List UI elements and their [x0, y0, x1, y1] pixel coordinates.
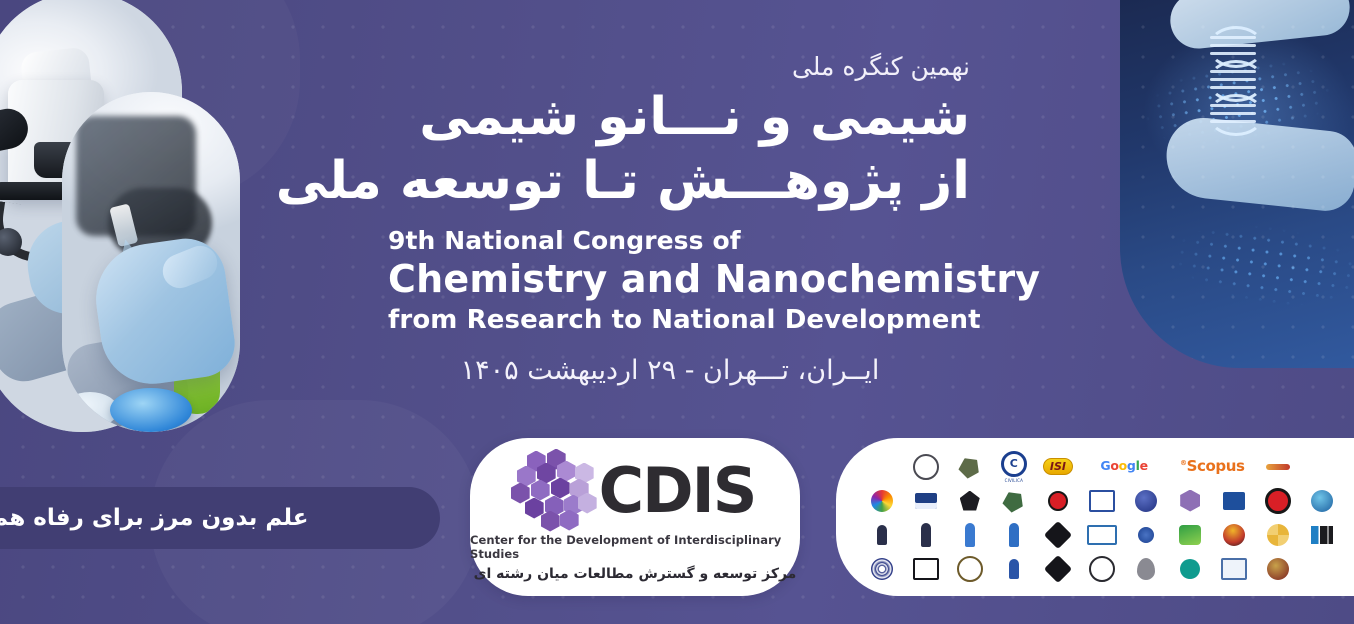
date-location-text: ایــران، تـــهران - ۲۹ اردیبهشت ۱۴۰۵	[370, 355, 970, 386]
dark-diamond-icon	[1043, 520, 1073, 550]
title-en-small: 9th National Congress of	[388, 226, 970, 255]
scientist-holding-flask-photo	[62, 92, 240, 432]
mandala-university-icon	[867, 554, 897, 584]
teacher-training-icon	[1131, 486, 1161, 516]
mountain-university-icon	[911, 486, 941, 516]
title-en-sub: from Research to National Development	[388, 305, 970, 335]
university-dome-icon	[955, 486, 985, 516]
cdis-subtitle-fa: مرکز توسعه و گسترش مطالعات میان رشته ای	[474, 566, 797, 582]
google-scholar-wordmark: Google	[1100, 452, 1147, 482]
islamic-azad-university-icon	[999, 520, 1029, 550]
magiran-icon	[1263, 452, 1293, 482]
kicker-text: نهمین کنگره ملی	[370, 52, 970, 82]
kharazmi-university-icon	[1087, 520, 1117, 550]
hexagon-sphere-icon	[511, 449, 597, 527]
headline-block: نهمین کنگره ملی شیمی و نـــانو شیمی از پ…	[370, 52, 970, 386]
slogan-pill: علم بدون مرز برای رفاه همگانی	[0, 487, 440, 549]
sponsor-logo-grid: Scopus® Google ISI CCIVILICA	[860, 450, 1344, 586]
cdis-wordmark: CDIS	[599, 460, 756, 522]
university-hex-icon	[911, 452, 941, 482]
conference-banner: نهمین کنگره ملی شیمی و نـــانو شیمی از پ…	[0, 0, 1354, 624]
dome-university-icon	[1087, 554, 1117, 584]
bars-institute-icon	[1307, 520, 1337, 550]
color-wheel-unesco-icon	[867, 486, 897, 516]
title-fa-line-1: شیمی و نـــانو شیمی	[370, 88, 970, 146]
research-institute-icon	[1043, 486, 1073, 516]
book-library-icon	[1087, 486, 1117, 516]
islamic-azad-university-icon-2	[955, 520, 985, 550]
cdis-logo-card: CDIS Center for the Development o	[470, 438, 800, 596]
blue-institute-icon	[1219, 486, 1249, 516]
title-fa-line-2: از پژوهـــش تـا توسعه ملی	[370, 152, 970, 210]
lab-flask-icon	[1175, 554, 1205, 584]
open-book-icon	[911, 554, 941, 584]
slogan-text: علم بدون مرز برای رفاه همگانی	[0, 505, 309, 531]
scopus-wordmark: Scopus®	[1180, 452, 1245, 482]
ministry-science-icon	[867, 520, 897, 550]
sun-institute-icon	[1263, 520, 1293, 550]
water-institute-icon	[1307, 486, 1337, 516]
sponsor-logos-panel: Scopus® Google ISI CCIVILICA	[836, 438, 1354, 596]
title-en-big: Chemistry and Nanochemistry	[388, 257, 970, 301]
cdis-subtitle-en: Center for the Development of Interdisci…	[470, 533, 800, 561]
university-crest-icon	[955, 452, 985, 482]
university-crest-icon-2	[999, 486, 1029, 516]
gear-institute-icon	[1219, 554, 1249, 584]
dna-helix-gloved-hands-photo	[1120, 0, 1354, 368]
payam-noor-university-icon	[1175, 486, 1205, 516]
droplet-institute-icon	[1131, 554, 1161, 584]
petroleum-university-icon	[1219, 520, 1249, 550]
minaret-icon	[911, 520, 941, 550]
defense-university-icon	[1263, 554, 1293, 584]
ring-university-icon	[955, 554, 985, 584]
dark-diamond-icon-2	[1043, 554, 1073, 584]
standard-org-icon	[1131, 520, 1161, 550]
civilica-wordmark: CCIVILICA	[999, 452, 1029, 482]
isi-wordmark: ISI	[1043, 452, 1073, 482]
azad-blue-icon	[999, 554, 1029, 584]
red-circle-university-icon	[1263, 486, 1293, 516]
agriculture-research-icon	[1175, 520, 1205, 550]
